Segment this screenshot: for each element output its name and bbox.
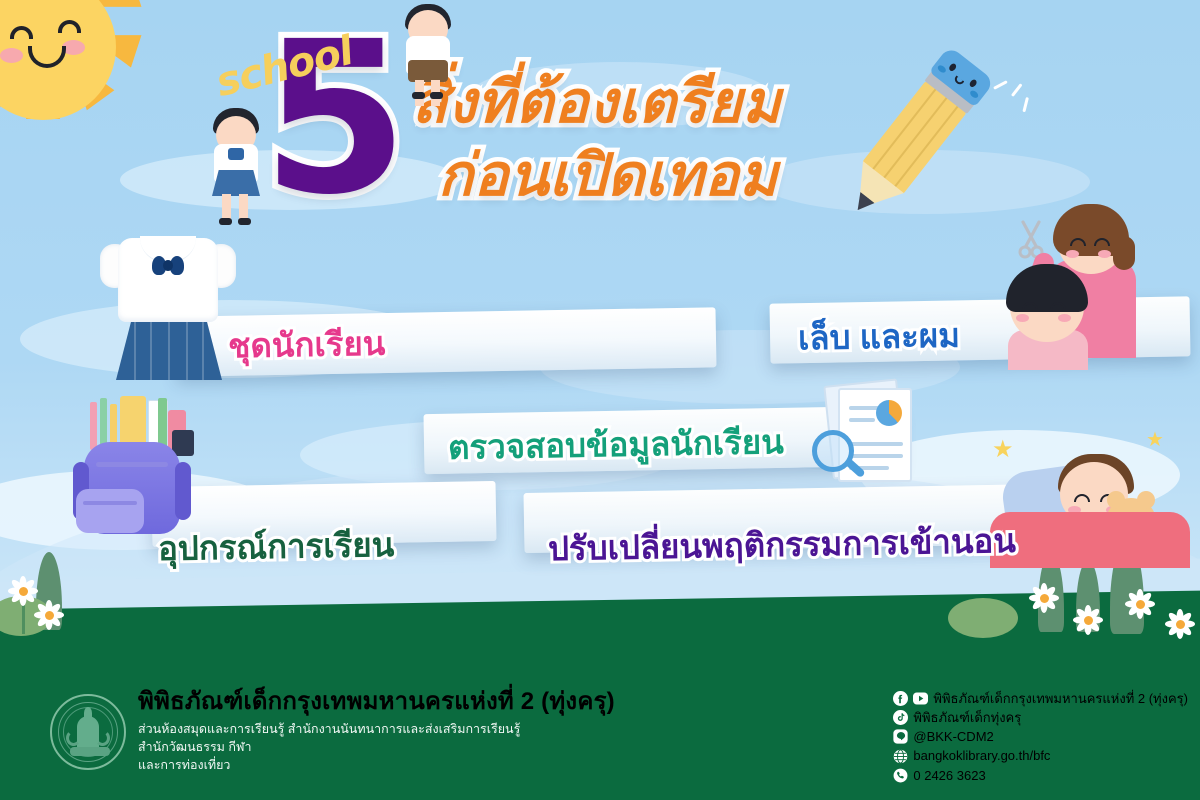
poster-canvas: school 5 สิ่งที่ต้องเตรียม ก่อนเปิดเทอม (0, 0, 1200, 800)
item-label-supplies: อุปกรณ์การเรียน (158, 518, 395, 575)
youtube-icon[interactable] (913, 691, 928, 706)
organization-name: พิพิธภัณฑ์เด็กกรุงเทพมหานครแห่งที่ 2 (ทุ… (138, 688, 615, 716)
backpack-icon (62, 396, 202, 541)
organization-subtitle-line-1: ส่วนห้องสมุดและการเรียนรู้ สำนักงานนันทน… (138, 720, 615, 738)
document-magnifier-icon (812, 382, 924, 490)
organization-subtitle: ส่วนห้องสมุดและการเรียนรู้ สำนักงานนันทน… (138, 720, 615, 774)
organization-subtitle-line-2: สำนักวัฒนธรรม กีฬา (138, 738, 615, 756)
facebook-icon[interactable] (893, 691, 908, 706)
star-icon: ★ (992, 438, 1014, 462)
contact-list: พิพิธภัณฑ์เด็กกรุงเทพมหานครแห่งที่ 2 (ทุ… (893, 690, 1188, 784)
sleeping-child-icon: ★ ★ (986, 420, 1196, 560)
headline-line-2: ก่อนเปิดเทอม (412, 139, 781, 212)
contact-row-phone[interactable]: 0 2426 3623 (893, 767, 985, 784)
school-uniform-icon (88, 222, 248, 387)
item-label-grooming: เล็บ และผม (798, 309, 961, 365)
daisy-flower-icon (1164, 608, 1196, 640)
phone-icon[interactable] (893, 768, 908, 783)
sun-face (0, 0, 116, 120)
item-label-uniform: ชุดนักเรียน (228, 317, 386, 373)
daisy-flower-icon (34, 600, 64, 630)
daisy-flower-icon (1028, 582, 1060, 614)
contact-text-facebook-youtube: พิพิธภัณฑ์เด็กกรุงเทพมหานครแห่งที่ 2 (ทุ… (933, 690, 1188, 707)
contact-text-line: @BKK-CDM2 (913, 728, 993, 745)
item-label-records: ตรวจสอบข้อมูลนักเรียน (448, 415, 785, 474)
bma-seal-logo (50, 694, 126, 770)
bush-icon (948, 598, 1018, 638)
magnifier-icon (812, 430, 868, 486)
contact-row-line[interactable]: @BKK-CDM2 (893, 728, 993, 745)
daisy-flower-icon (1124, 588, 1156, 620)
contact-row-tiktok[interactable]: พิพิธภัณฑ์เด็กทุ่งครุ (893, 709, 1021, 726)
contact-text-tiktok: พิพิธภัณฑ์เด็กทุ่งครุ (913, 709, 1021, 726)
item-label-sleep: ปรับเปลี่ยนพฤติกรรมการเข้านอน (548, 514, 1017, 575)
tiktok-icon[interactable] (893, 710, 908, 725)
haircut-icon (992, 198, 1192, 358)
sun-icon (0, 0, 138, 142)
page-title: สิ่งที่ต้องเตรียม ก่อนเปิดเทอม (412, 66, 781, 212)
footer-organization-block: พิพิธภัณฑ์เด็กกรุงเทพมหานครแห่งที่ 2 (ทุ… (138, 688, 615, 774)
contact-row-website[interactable]: bangkoklibrary.go.th/bfc (893, 747, 1050, 764)
contact-text-phone: 0 2426 3623 (913, 767, 985, 784)
line-icon[interactable] (893, 729, 908, 744)
star-icon: ★ (1146, 430, 1164, 450)
headline-line-1: สิ่งที่ต้องเตรียม (412, 66, 781, 139)
contact-row-facebook-youtube[interactable]: พิพิธภัณฑ์เด็กกรุงเทพมหานครแห่งที่ 2 (ทุ… (893, 690, 1188, 707)
contact-text-website: bangkoklibrary.go.th/bfc (913, 747, 1050, 764)
student-boy-illustration (398, 4, 458, 100)
student-girl-illustration (206, 108, 266, 228)
globe-icon[interactable] (893, 749, 908, 764)
organization-subtitle-line-3: และการท่องเที่ยว (138, 756, 615, 774)
daisy-flower-icon (1072, 604, 1104, 636)
